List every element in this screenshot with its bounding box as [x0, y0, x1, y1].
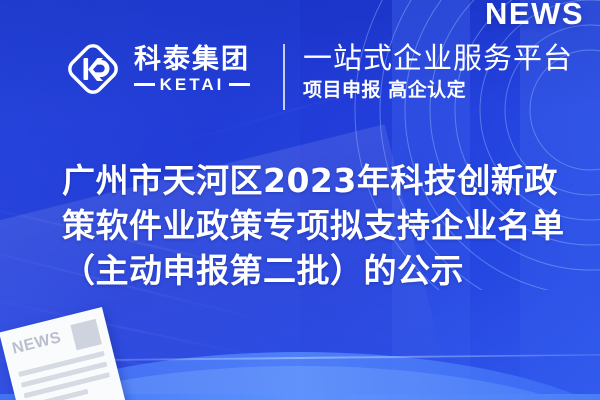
brand-name-chinese: 科泰集团: [134, 46, 250, 73]
wordmark-rule-left: [134, 83, 155, 86]
tagline-main: 一站式企业服务平台: [303, 42, 573, 75]
brand-name-english: KETAI: [160, 76, 225, 93]
header-tagline: 一站式企业服务平台 项目申报 高企认定: [303, 42, 573, 102]
ketai-diamond-monogram-icon: [62, 38, 124, 100]
header-divider: [283, 44, 285, 110]
news-banner: 科泰集团 KETAI 一站式企业服务平台 项目申报 高企认定 NEWS 广州市天…: [0, 0, 600, 400]
page-title: 广州市天河区2023年科技创新政策软件业政策专项拟支持企业名单（主动申报第二批）…: [62, 158, 567, 293]
tagline-sub: 项目申报 高企认定: [303, 79, 573, 102]
news-label: NEWS: [485, 0, 584, 29]
newspaper-masthead: NEWS: [11, 330, 63, 358]
brand-logo[interactable]: 科泰集团 KETAI: [62, 38, 250, 100]
banner-header: 科泰集团 KETAI 一站式企业服务平台 项目申报 高企认定 NEWS: [0, 0, 600, 140]
wordmark-rule-right: [229, 83, 250, 86]
brand-wordmark: 科泰集团 KETAI: [134, 46, 250, 93]
image-placeholder-icon: [70, 319, 102, 351]
brand-name-english-row: KETAI: [134, 76, 250, 93]
